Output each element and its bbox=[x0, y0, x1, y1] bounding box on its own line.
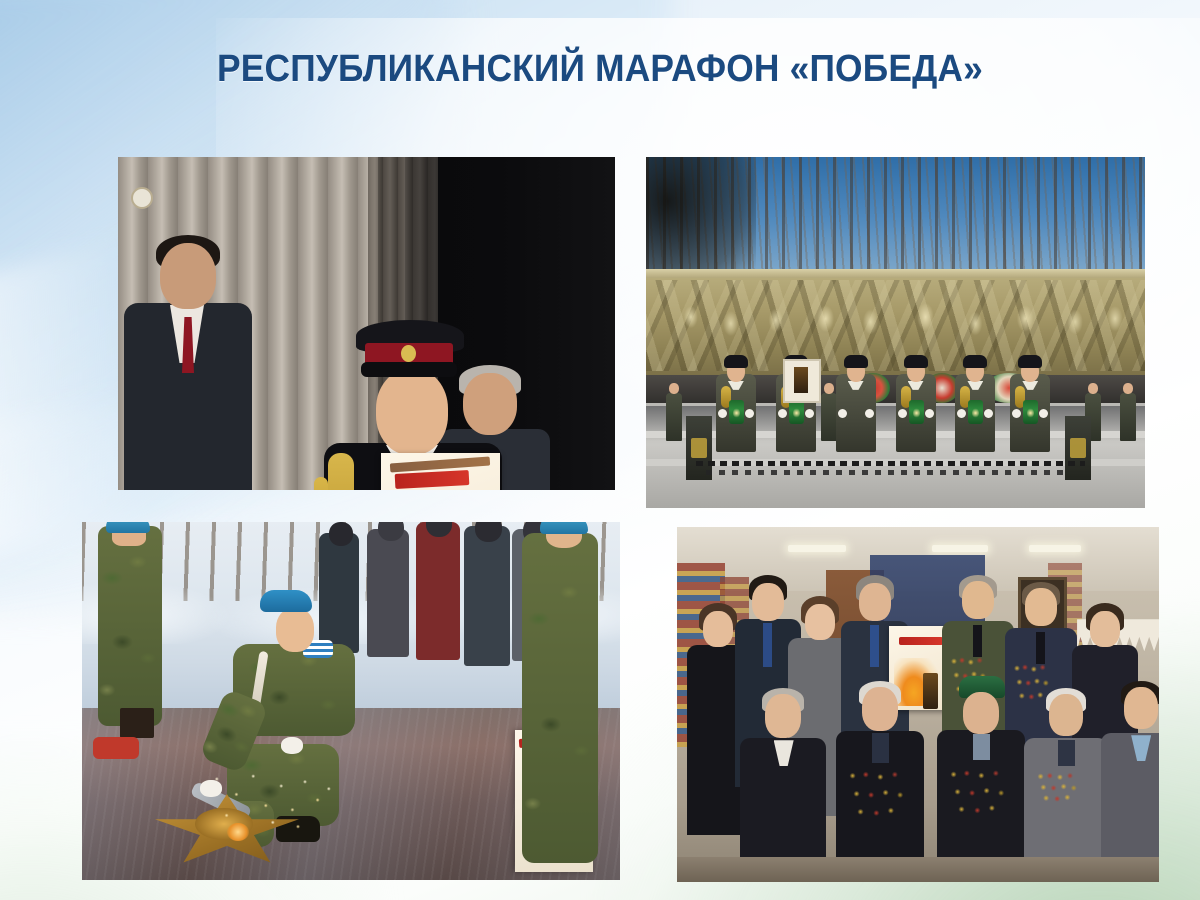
guard-ushanka bbox=[724, 355, 748, 368]
person-head bbox=[859, 583, 891, 621]
photo-memorial-guard[interactable] bbox=[646, 157, 1145, 508]
far-guard-4 bbox=[821, 393, 837, 441]
veteran-front-3-tubeteika bbox=[937, 680, 1025, 882]
official-left-head bbox=[160, 243, 216, 309]
guard-glove-left bbox=[838, 409, 847, 418]
ceiling-light-1 bbox=[788, 545, 846, 552]
guard-glove-left bbox=[718, 409, 727, 418]
veteran-medals bbox=[846, 765, 912, 825]
plinth-emblem-icon bbox=[1070, 438, 1086, 458]
plinth-emblem-icon bbox=[691, 438, 707, 458]
spectator-5-head bbox=[329, 522, 353, 546]
person-head bbox=[765, 694, 801, 738]
veteran-medals bbox=[1036, 770, 1082, 806]
person-head bbox=[752, 583, 784, 621]
spectator-1-body bbox=[367, 529, 409, 657]
memorial-chain-lower bbox=[706, 470, 1065, 475]
person-tie bbox=[870, 625, 879, 667]
memorial-relief-figures bbox=[646, 283, 1145, 364]
far-guard-1 bbox=[666, 393, 682, 441]
guard-ushanka bbox=[904, 355, 928, 368]
veteran-tie bbox=[872, 733, 889, 763]
guard-ushanka bbox=[963, 355, 987, 368]
veteran-tie bbox=[973, 734, 990, 760]
cadet-aiguillette bbox=[328, 453, 354, 490]
photo-veterans-group[interactable] bbox=[677, 527, 1159, 882]
spectator-5-body bbox=[319, 533, 359, 653]
guard-glove-left bbox=[898, 409, 907, 418]
spectator-2-body bbox=[416, 522, 460, 660]
person-head bbox=[1124, 687, 1158, 729]
person-head bbox=[1049, 694, 1083, 736]
person-head bbox=[805, 604, 835, 640]
cadet-center-head bbox=[376, 369, 448, 455]
soldier-head bbox=[276, 608, 314, 652]
escort-soldier-right-beret bbox=[540, 522, 588, 534]
veteran-tie bbox=[1058, 740, 1075, 766]
photo-eternal-flame[interactable] bbox=[82, 522, 620, 880]
guard-glove-right bbox=[805, 409, 814, 418]
guard-ushanka bbox=[844, 355, 868, 368]
memorial-portrait-frame bbox=[783, 359, 821, 403]
person-head bbox=[703, 611, 733, 647]
person-head bbox=[862, 687, 898, 731]
red-cloth-on-snow bbox=[93, 737, 139, 759]
page-title: РЕСПУБЛИКАНСКИЙ МАРАФОН «ПОБЕДА» bbox=[42, 48, 1158, 91]
memorial-chain-upper bbox=[696, 461, 1085, 466]
guard-glove-right bbox=[745, 409, 754, 418]
guard-lantern-glow bbox=[913, 408, 920, 418]
memorial-wall-cap bbox=[646, 269, 1145, 278]
interior-floor bbox=[677, 857, 1159, 882]
flame-sparks bbox=[200, 765, 340, 835]
ceiling-light-3 bbox=[1029, 545, 1081, 552]
poster-lantern-image bbox=[923, 673, 938, 709]
person-tie bbox=[763, 623, 772, 667]
photo-ceremony-hall-content bbox=[118, 157, 615, 490]
guard-lantern-glow bbox=[733, 408, 740, 418]
guard-lantern-glow bbox=[793, 408, 800, 418]
poster-title-text bbox=[899, 637, 943, 645]
memorial-plinth-right bbox=[1065, 416, 1091, 480]
escort-soldier-left-body bbox=[98, 526, 162, 726]
spectator-3-body bbox=[464, 526, 510, 666]
person-head bbox=[963, 692, 999, 734]
photo-ceremony-hall[interactable] bbox=[118, 157, 615, 490]
ceiling-light-2 bbox=[932, 545, 988, 552]
guard-glove-right bbox=[865, 409, 874, 418]
man-front-right bbox=[1101, 683, 1159, 882]
spectator-3-head bbox=[475, 522, 502, 542]
escort-soldier-right-body bbox=[522, 533, 598, 863]
soldier-blue-beret bbox=[260, 590, 312, 612]
official-rear-head bbox=[463, 373, 517, 435]
far-guard-7 bbox=[1120, 393, 1136, 441]
guard-glove-left bbox=[778, 409, 787, 418]
veteran-front-4 bbox=[1024, 690, 1108, 882]
veteran-front-2 bbox=[836, 683, 924, 882]
veteran-medals bbox=[947, 764, 1013, 822]
photo-veterans-group-content bbox=[677, 527, 1159, 882]
person-head bbox=[962, 581, 994, 619]
photo-eternal-flame-content bbox=[82, 522, 620, 880]
guard-glove-right bbox=[925, 409, 934, 418]
soldier-glove-upper bbox=[281, 737, 303, 754]
cadet-cap-brim bbox=[361, 362, 457, 377]
cadet-aiguillette-cord bbox=[314, 477, 328, 490]
escort-soldier-left-beret bbox=[106, 522, 150, 533]
person-head bbox=[1025, 588, 1057, 626]
veteran-front-1 bbox=[740, 690, 826, 882]
cadet-cap-badge-icon bbox=[401, 345, 416, 362]
ground-equipment-box bbox=[120, 708, 154, 738]
portrait-lantern-image bbox=[794, 367, 808, 393]
lantern-emblem-icon bbox=[131, 187, 153, 209]
person-head bbox=[1090, 611, 1120, 647]
photo-memorial-guard-content bbox=[646, 157, 1145, 508]
slide-canvas: РЕСПУБЛИКАНСКИЙ МАРАФОН «ПОБЕДА» bbox=[0, 0, 1200, 900]
guard-ushanka bbox=[1018, 355, 1042, 368]
